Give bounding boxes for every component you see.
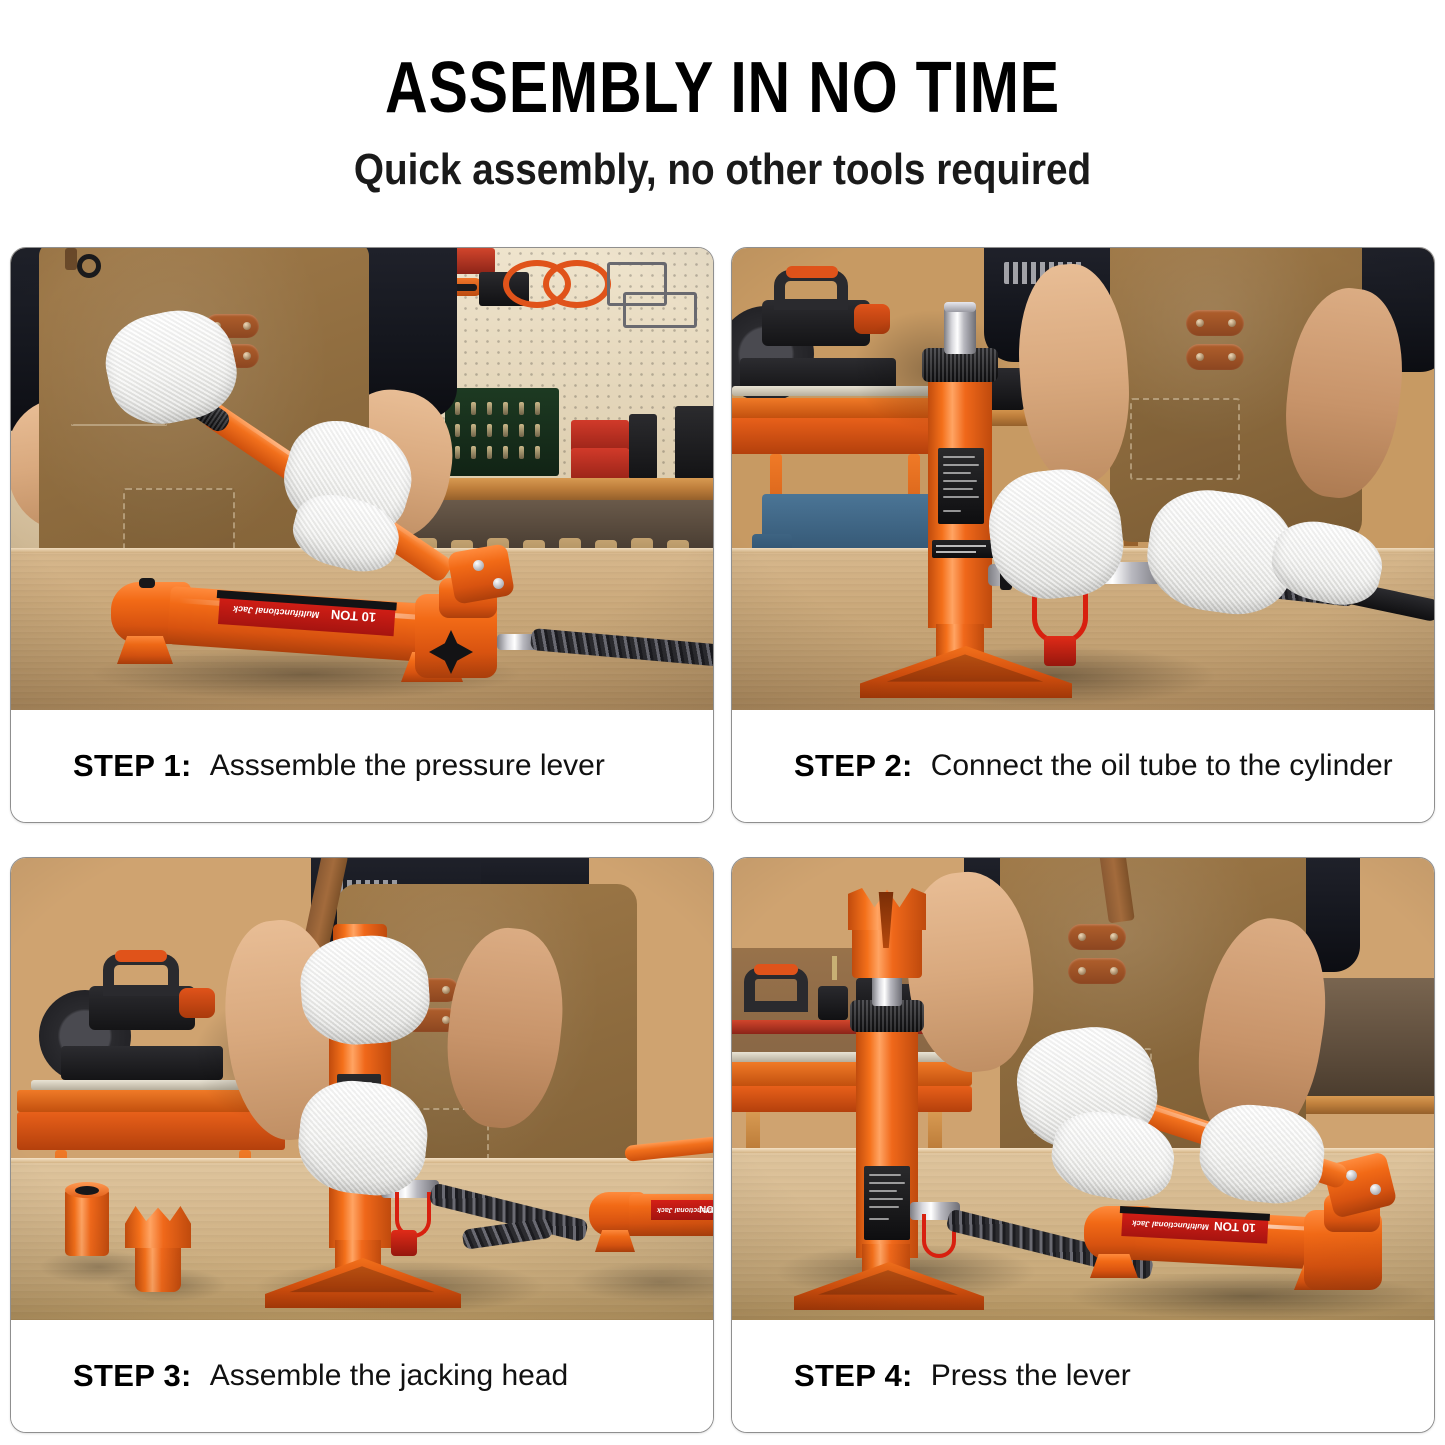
- step-2-text: Connect the oil tube to the cylinder: [931, 749, 1393, 783]
- step-4-text: Press the lever: [931, 1359, 1131, 1393]
- step-4-photo: 10 TON Multifunctional Jack: [732, 858, 1434, 1322]
- step-4-caption: STEP 4: Press the lever: [732, 1320, 1434, 1432]
- step-1-label: STEP 1:: [73, 748, 192, 784]
- step-1-photo: 10 TON Multifunctional Jack: [11, 248, 713, 712]
- step-1-caption: STEP 1: Asssemble the pressure lever: [11, 710, 713, 822]
- step-3-caption: STEP 3: Assemble the jacking head: [11, 1320, 713, 1432]
- step-3-text: Assemble the jacking head: [210, 1359, 569, 1393]
- page-subtitle: Quick assembly, no other tools required: [87, 148, 1359, 192]
- step-card-4[interactable]: 10 TON Multifunctional Jack: [731, 857, 1435, 1433]
- header: ASSEMBLY IN NO TIME Quick assembly, no o…: [0, 0, 1445, 192]
- infographic-page: ASSEMBLY IN NO TIME Quick assembly, no o…: [0, 0, 1445, 1445]
- steps-grid: 10 TON Multifunctional Jack: [10, 247, 1435, 1433]
- step-1-text: Asssemble the pressure lever: [210, 749, 605, 783]
- step-4-label: STEP 4:: [794, 1358, 913, 1394]
- step-2-label: STEP 2:: [794, 748, 913, 784]
- step-card-1[interactable]: 10 TON Multifunctional Jack: [10, 247, 714, 823]
- page-title: ASSEMBLY IN NO TIME: [130, 52, 1315, 124]
- step-card-2[interactable]: STEP 2: Connect the oil tube to the cyli…: [731, 247, 1435, 823]
- step-card-3[interactable]: 10 TON Multifunctional Jack: [10, 857, 714, 1433]
- step-2-photo: [732, 248, 1434, 712]
- step-2-caption: STEP 2: Connect the oil tube to the cyli…: [732, 710, 1434, 822]
- step-3-photo: 10 TON Multifunctional Jack: [11, 858, 713, 1322]
- step-3-label: STEP 3:: [73, 1358, 192, 1394]
